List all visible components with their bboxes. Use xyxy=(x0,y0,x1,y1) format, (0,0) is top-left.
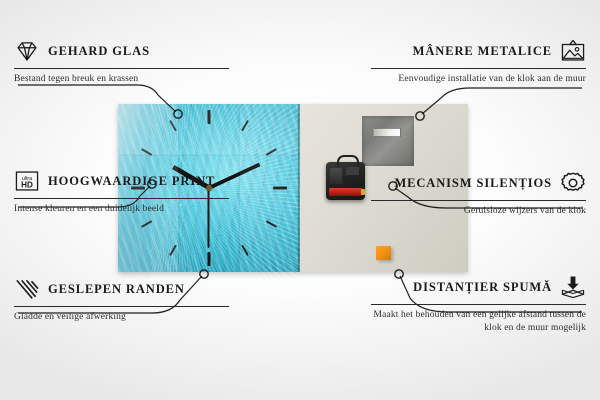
ultra-hd-icon: ultra HD xyxy=(14,168,40,194)
gear-icon xyxy=(560,170,586,196)
press-down-pad-icon xyxy=(560,274,586,300)
battery xyxy=(329,188,362,196)
feature-spacer: DISTANȚIER SPUMĂ Maakt het behouden van … xyxy=(371,274,586,334)
feature-title: MÂNERE METALICE xyxy=(413,44,552,58)
feature-title: HOOGWAARDIGE PRINT xyxy=(48,174,215,188)
clock-tick xyxy=(141,148,152,156)
clock-tick xyxy=(266,148,277,156)
clock-tick xyxy=(169,120,177,131)
clock-tick xyxy=(241,120,249,131)
mechanism-hanging-loop xyxy=(337,155,359,167)
clock-tick xyxy=(169,245,177,256)
clock-mechanism xyxy=(326,162,365,200)
mechanism-detail xyxy=(330,168,342,184)
foam-spacer xyxy=(376,246,391,260)
feature-glass: GEHARD GLAS Bestand tegen breuk en krass… xyxy=(14,38,229,86)
bevelled-edges-icon xyxy=(14,276,40,302)
feature-edges: GESLEPEN RANDEN Gladde en veilige afwerk… xyxy=(14,276,229,324)
feature-mechanism: MECANISM SILENȚIOS Geruisloze wijzers va… xyxy=(371,170,586,218)
hanger-slot xyxy=(373,128,401,137)
feature-desc: Maakt het behouden van een gelijke afsta… xyxy=(371,309,586,334)
infographic-canvas: GEHARD GLAS Bestand tegen breuk en krass… xyxy=(0,0,600,400)
clock-tick xyxy=(208,110,211,124)
feature-divider xyxy=(14,198,229,199)
clock-tick xyxy=(208,252,211,266)
feature-print: ultra HD HOOGWAARDIGE PRINT Intense kleu… xyxy=(14,168,229,216)
feature-divider xyxy=(14,306,229,307)
feature-desc: Gladde en veilige afwerking xyxy=(14,311,229,324)
clock-tick xyxy=(273,187,287,190)
clock-tick xyxy=(266,220,277,228)
metal-hanger-plate xyxy=(362,116,414,166)
feature-title: DISTANȚIER SPUMĂ xyxy=(413,280,552,294)
mechanism-detail-2 xyxy=(346,167,359,175)
feature-title: GESLEPEN RANDEN xyxy=(48,282,185,296)
wall-frame-icon xyxy=(560,38,586,64)
clock-tick xyxy=(241,245,249,256)
feature-handles: MÂNERE METALICE Eenvoudige installatie v… xyxy=(371,38,586,86)
battery-terminal xyxy=(361,189,365,195)
feature-divider xyxy=(371,200,586,201)
feature-desc: Geruisloze wijzers van de klok xyxy=(371,205,586,218)
ultra-hd-icon-bottom: HD xyxy=(21,181,33,190)
feature-desc: Eenvoudige installatie van de klok aan d… xyxy=(371,73,586,86)
feature-divider xyxy=(14,68,229,69)
clock-tick xyxy=(141,220,152,228)
feature-title: GEHARD GLAS xyxy=(48,44,150,58)
diamond-icon xyxy=(14,38,40,64)
feature-divider xyxy=(371,68,586,69)
feature-desc: Bestand tegen breuk en krassen xyxy=(14,73,229,86)
feature-title: MECANISM SILENȚIOS xyxy=(394,176,552,190)
feature-desc: Intense kleuren en een duidelijk beeld xyxy=(14,203,229,216)
feature-divider xyxy=(371,304,586,305)
